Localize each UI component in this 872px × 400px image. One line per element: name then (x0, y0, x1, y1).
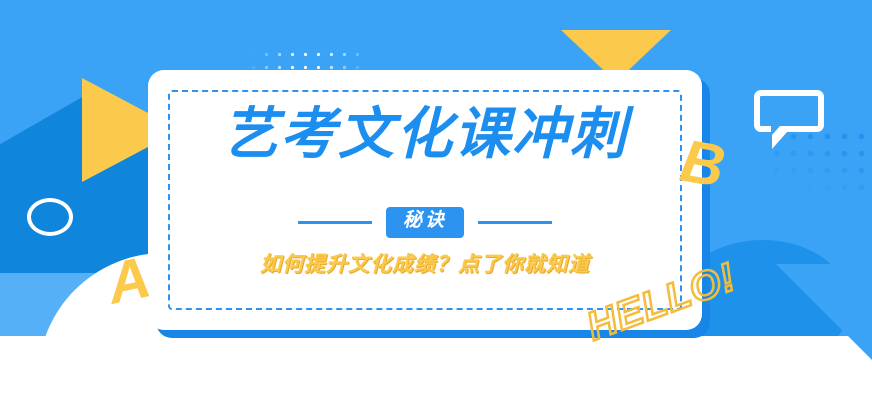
speech-bubble-icon (754, 90, 824, 132)
blue-corner-shape (776, 264, 872, 360)
badge-divider-row: 秘诀 (148, 207, 702, 238)
decor-letter-b: B (676, 131, 729, 198)
circle-outline-icon (27, 198, 73, 236)
divider-line-left (298, 221, 372, 224)
promo-banner: 艺考文化课冲刺 秘诀 如何提升文化成绩？点了你就知道 A B HELLO! (0, 0, 872, 400)
page-title: 艺考文化课冲刺 (148, 106, 702, 162)
page-subtitle: 如何提升文化成绩？点了你就知道 (148, 248, 702, 278)
divider-line-right (478, 221, 552, 224)
status-badge: 秘诀 (386, 207, 464, 238)
content-card: 艺考文化课冲刺 秘诀 如何提升文化成绩？点了你就知道 (148, 70, 702, 330)
